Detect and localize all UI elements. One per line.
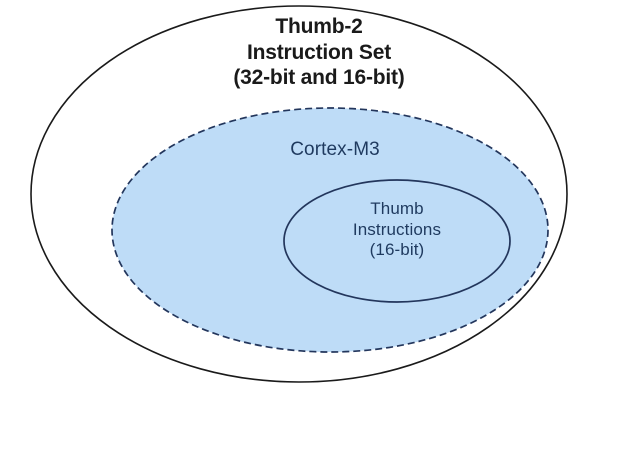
inner-label-line-1: Thumb — [307, 199, 487, 220]
middle-ellipse-label: Cortex-M3 — [185, 138, 485, 161]
outer-label-line-2: Instruction Set — [169, 40, 469, 66]
middle-label-line-1: Cortex-M3 — [185, 138, 485, 161]
outer-label-line-1: Thumb-2 — [169, 14, 469, 40]
caption-bar: www.elecfans.com 图1.4Thumb-2指令集与Thumb指令集… — [0, 412, 638, 472]
inner-label-line-3: (16-bit) — [307, 240, 487, 261]
outer-label-line-3: (32-bit and 16-bit) — [169, 65, 469, 91]
inner-label-line-2: Instructions — [307, 220, 487, 241]
figure-page: Thumb-2 Instruction Set (32-bit and 16-b… — [0, 0, 638, 472]
inner-ellipse-label: Thumb Instructions (16-bit) — [307, 199, 487, 261]
outer-ellipse-label: Thumb-2 Instruction Set (32-bit and 16-b… — [169, 14, 469, 91]
